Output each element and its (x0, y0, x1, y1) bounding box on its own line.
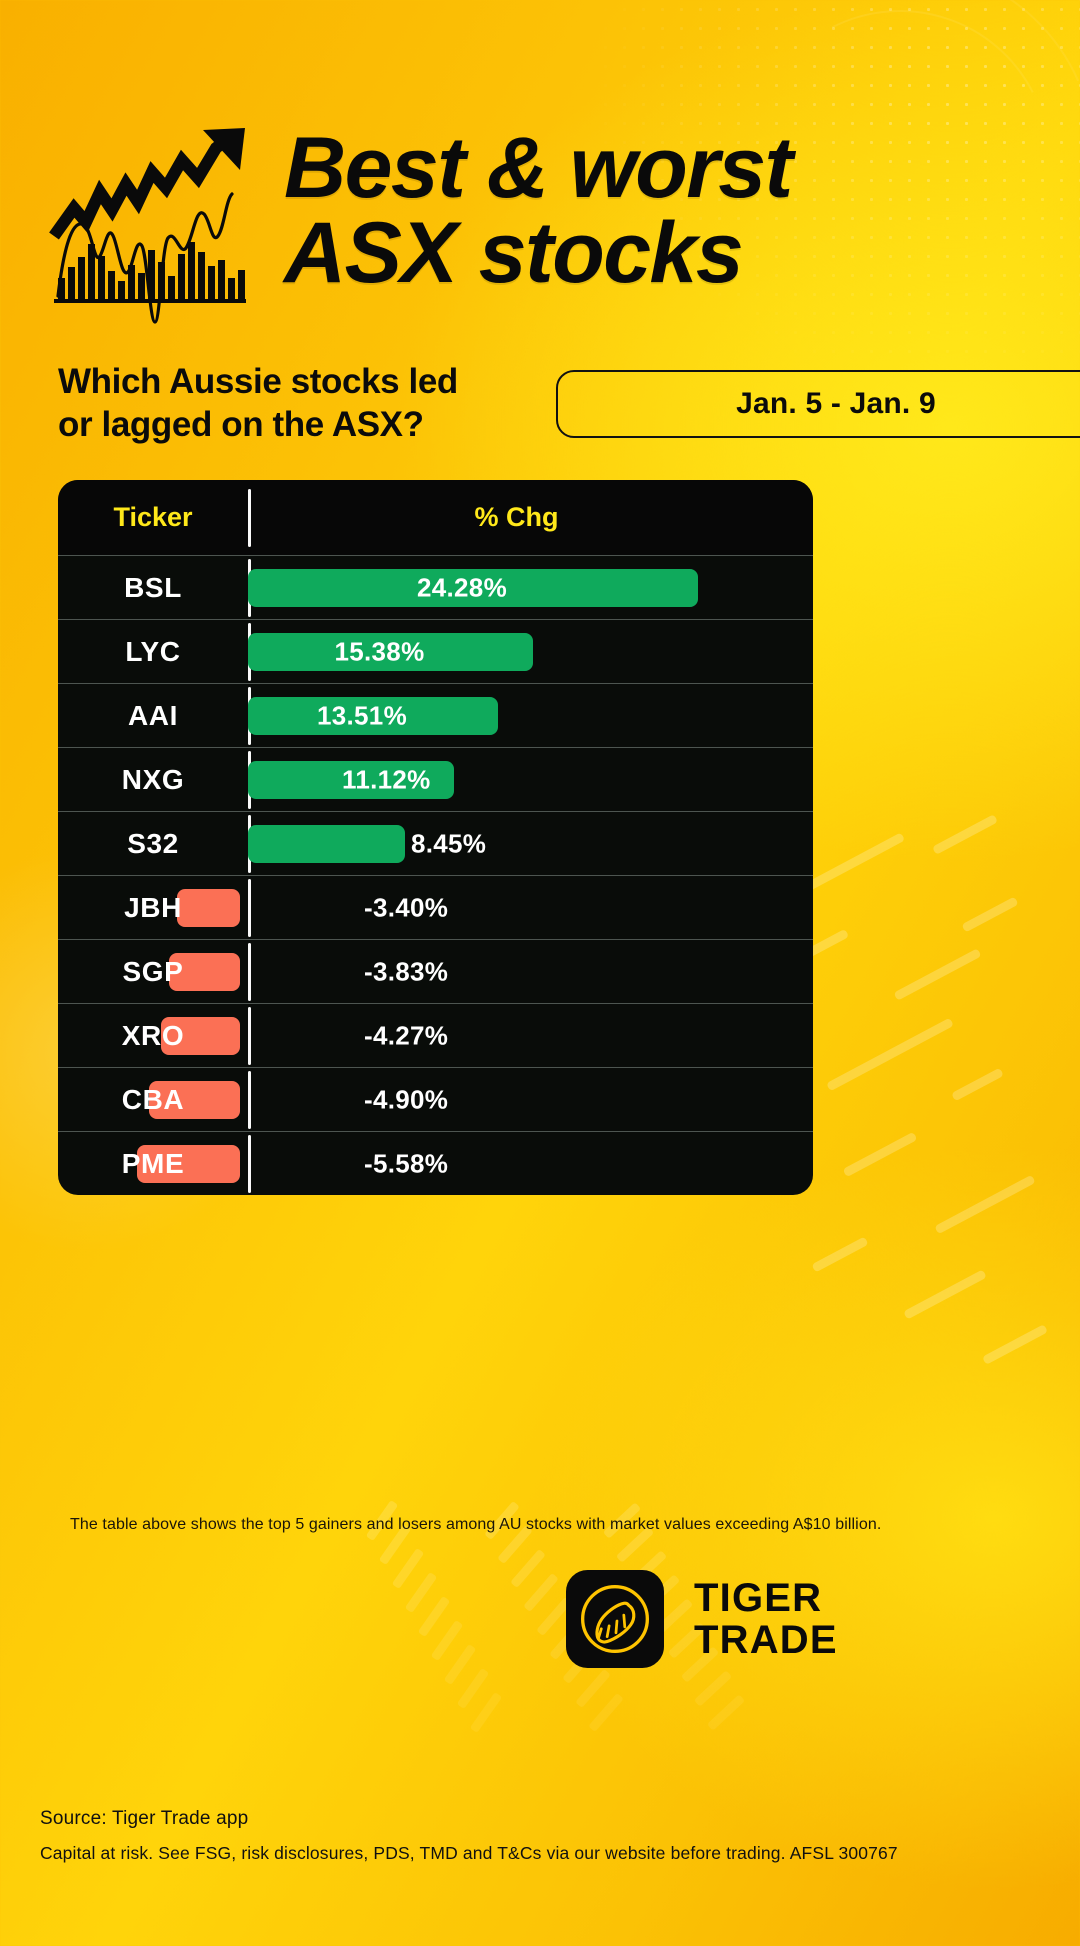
subtitle-line-1: Which Aussie stocks led (58, 360, 578, 403)
pct-change-value: -3.83% (364, 956, 448, 987)
tiger-trade-logo-icon (566, 1570, 664, 1668)
column-divider (248, 489, 251, 547)
pct-change-value: -3.40% (364, 892, 448, 923)
header: Best & worst ASX stocks (0, 118, 1080, 338)
brand-line-2: TRADE (694, 1619, 838, 1661)
ticker-symbol: LYC (58, 636, 248, 668)
bar-track: -3.40% (248, 876, 813, 939)
table-row: PME-5.58% (58, 1131, 813, 1195)
column-header-pct-chg: % Chg (248, 502, 813, 533)
pct-change-value: 13.51% (317, 700, 407, 731)
pct-change-value: -4.90% (364, 1084, 448, 1115)
column-header-ticker: Ticker (58, 502, 248, 533)
ticker-symbol: AAI (58, 700, 248, 732)
table-body: BSL24.28%LYC15.38%AAI13.51%NXG11.12%S328… (58, 555, 813, 1195)
bar-track: -4.27% (248, 1004, 813, 1067)
ticker-symbol: S32 (58, 828, 248, 860)
table-row: S328.45% (58, 811, 813, 875)
stock-performance-table: Ticker % Chg BSL24.28%LYC15.38%AAI13.51%… (58, 480, 813, 1195)
stock-chart-arrow-icon (48, 126, 256, 326)
ticker-symbol: SGP (58, 956, 248, 988)
pct-change-value: 11.12% (342, 764, 431, 795)
bar-track: -5.58% (248, 1132, 813, 1195)
brand-line-1: TIGER (694, 1577, 838, 1619)
pct-change-value: 15.38% (335, 636, 425, 667)
pct-change-value: 8.45% (411, 828, 486, 859)
table-row: XRO-4.27% (58, 1003, 813, 1067)
bar-track: 15.38% (248, 620, 813, 683)
bar-track: 24.28% (248, 556, 813, 619)
title-line-2: ASX stocks (284, 211, 792, 296)
ticker-symbol: JBH (58, 892, 248, 924)
ticker-symbol: NXG (58, 764, 248, 796)
table-header-row: Ticker % Chg (58, 480, 813, 555)
brand-logo: TIGER TRADE (566, 1570, 838, 1668)
pct-change-value: 24.28% (417, 572, 507, 603)
bar-track: 11.12% (248, 748, 813, 811)
subtitle: Which Aussie stocks led or lagged on the… (58, 360, 578, 446)
page-title: Best & worst ASX stocks (284, 118, 792, 296)
pct-change-value: -5.58% (364, 1148, 448, 1179)
light-streaks-decoration (780, 820, 1080, 1380)
title-line-1: Best & worst (284, 126, 792, 211)
bar-track: -3.83% (248, 940, 813, 1003)
footer-source: Source: Tiger Trade app (40, 1808, 248, 1830)
brand-name: TIGER TRADE (694, 1577, 838, 1661)
bar-track: 13.51% (248, 684, 813, 747)
ticker-symbol: CBA (58, 1084, 248, 1116)
table-row: AAI13.51% (58, 683, 813, 747)
ticker-symbol: PME (58, 1148, 248, 1180)
table-row: CBA-4.90% (58, 1067, 813, 1131)
table-row: JBH-3.40% (58, 875, 813, 939)
table-footnote: The table above shows the top 5 gainers … (70, 1516, 1000, 1534)
bar-track: 8.45% (248, 812, 813, 875)
date-range-badge: Jan. 5 - Jan. 9 (556, 370, 1080, 438)
table-row: LYC15.38% (58, 619, 813, 683)
pct-change-value: -4.27% (364, 1020, 448, 1051)
ticker-symbol: XRO (58, 1020, 248, 1052)
ticker-symbol: BSL (58, 572, 248, 604)
subtitle-line-2: or lagged on the ASX? (58, 403, 578, 446)
table-row: SGP-3.83% (58, 939, 813, 1003)
table-row: BSL24.28% (58, 555, 813, 619)
positive-bar (248, 825, 405, 863)
bar-track: -4.90% (248, 1068, 813, 1131)
table-row: NXG11.12% (58, 747, 813, 811)
footer-disclaimer: Capital at risk. See FSG, risk disclosur… (40, 1843, 898, 1864)
